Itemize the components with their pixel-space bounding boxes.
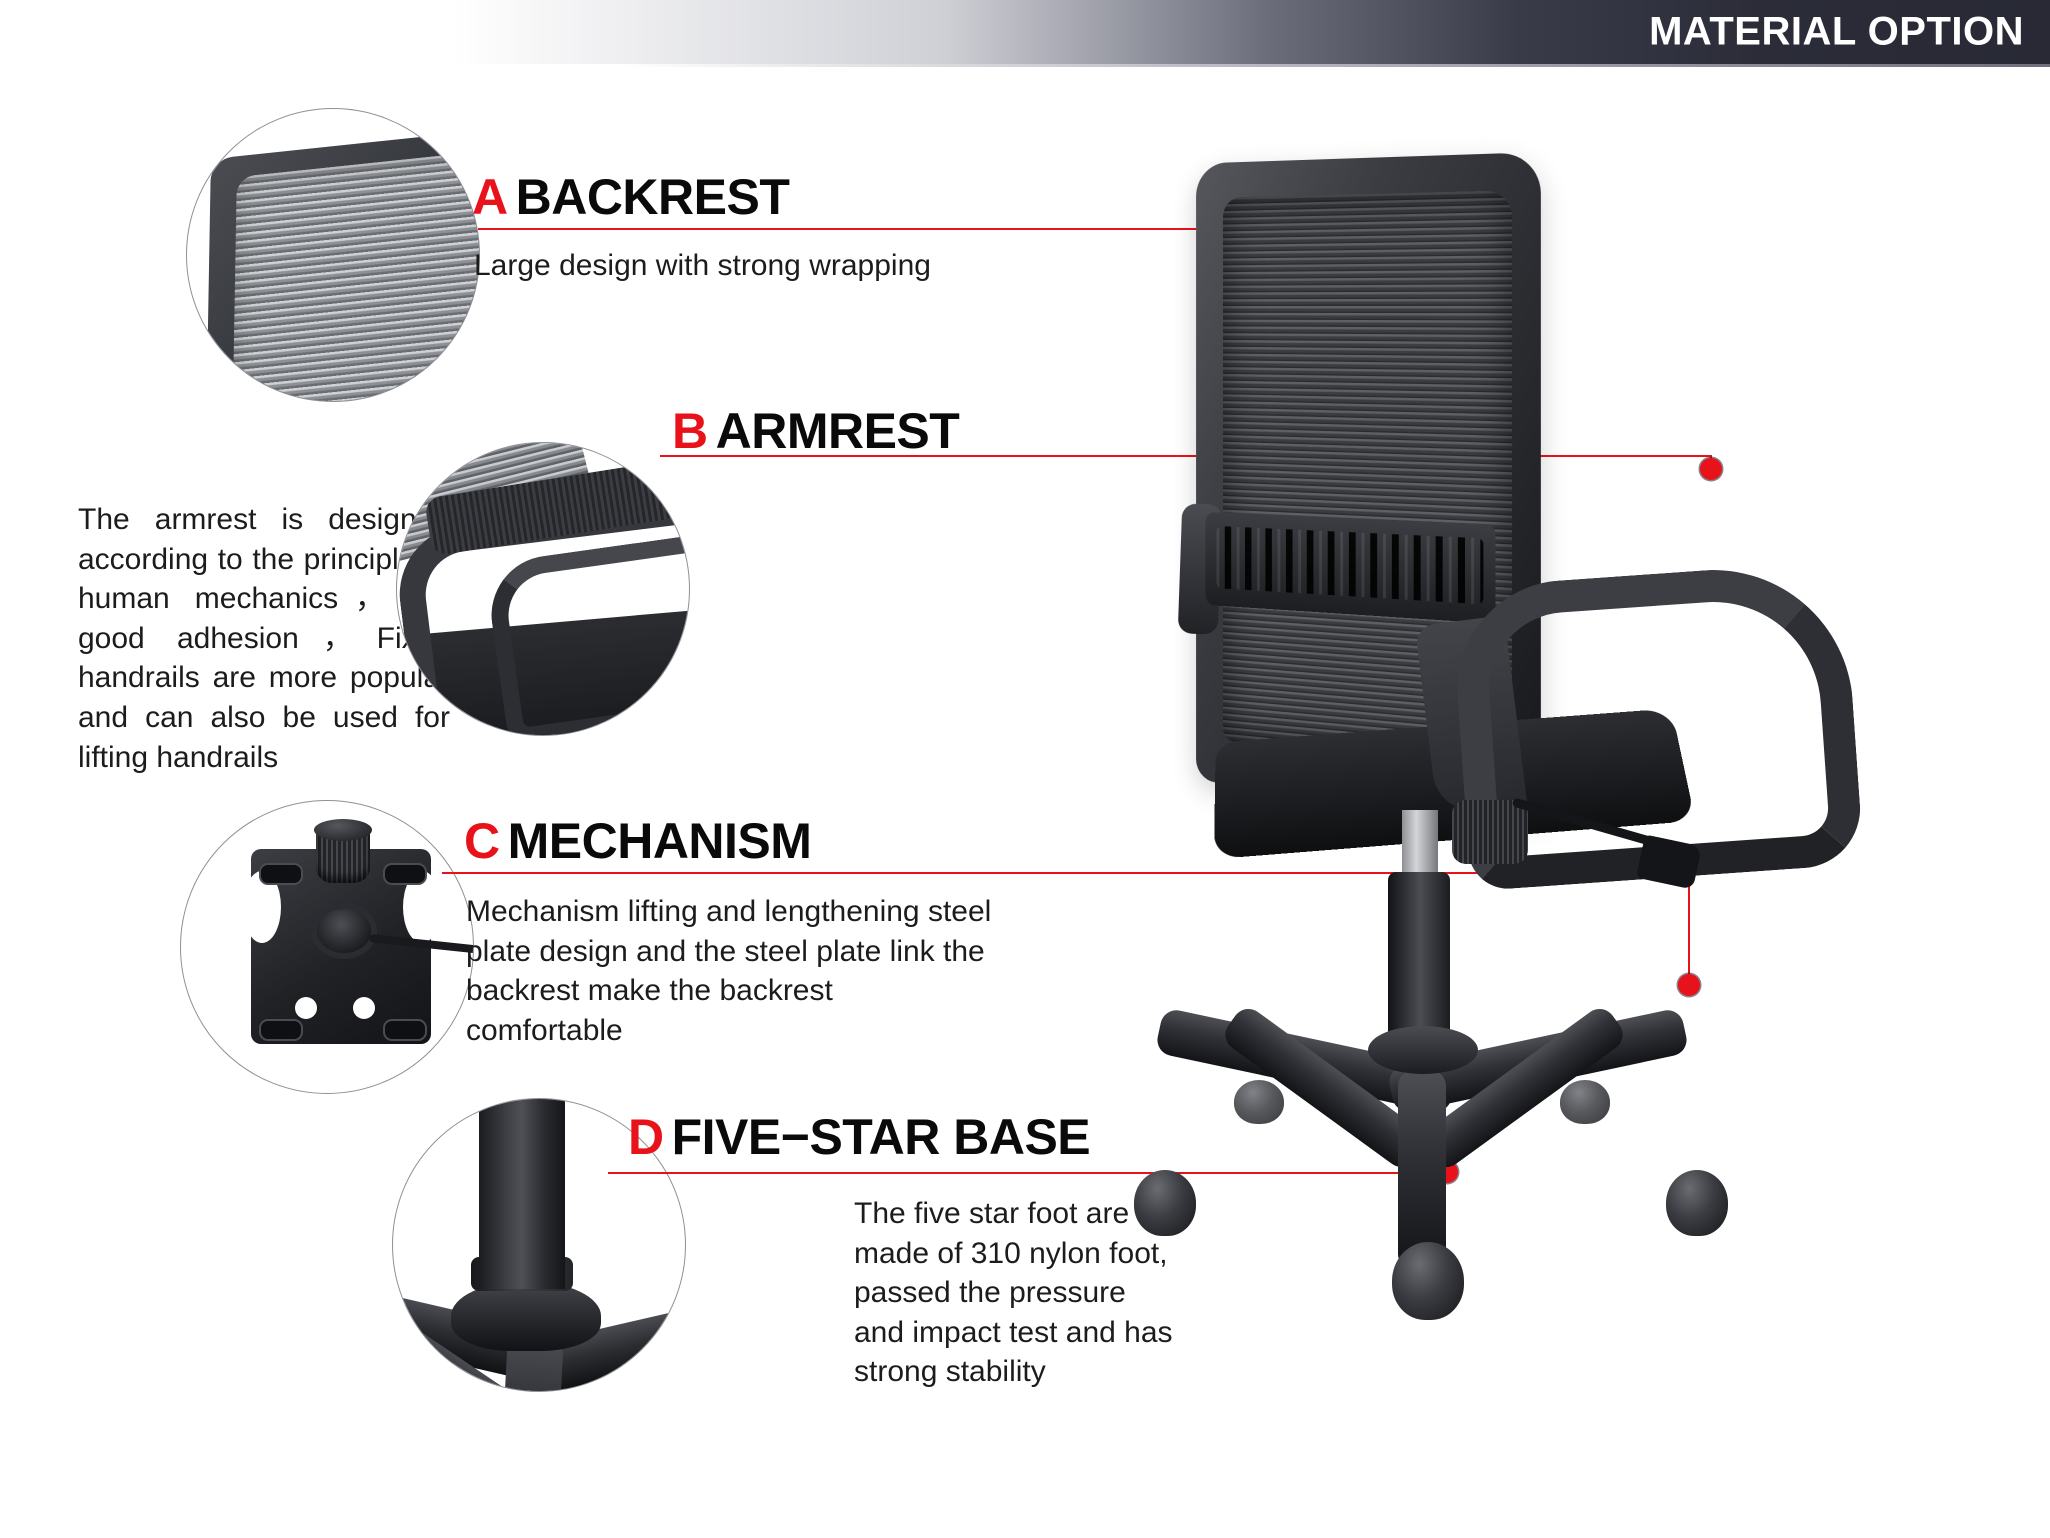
page-title: MATERIAL OPTION [1649,10,2024,55]
header-divider [0,64,2050,67]
chair-base-arm-5 [1398,1070,1446,1270]
section-b-title: ARMREST [716,403,960,459]
backrest-inset-image [187,109,479,401]
section-c-body: Mechanism lifting and lengthening steel … [466,892,994,1050]
mechanism-spindle-hub-shape [317,909,371,953]
chair-caster-rear-left [1234,1080,1284,1124]
chair-gas-lift-piston [1402,810,1438,880]
chair-caster-rear-right [1560,1080,1610,1124]
chair-lumbar-support [1206,512,1496,624]
chair-gas-lift-cylinder [1388,872,1450,1052]
base-gas-column-shape [479,1099,565,1289]
section-b-body: The armrest is designed according to the… [78,500,450,777]
mechanism-knob-cap-shape [314,819,372,841]
section-d-letter: D [628,1109,664,1165]
mechanism-inset-image [181,801,473,1093]
base-hub-shape [451,1281,601,1351]
backrest-inset-circle [186,108,480,402]
product-chair-image [1130,150,2010,1500]
section-d-heading: DFIVE−STAR BASE [628,1108,1090,1166]
mechanism-mount-slot-br [383,1019,427,1041]
chair-tilt-tension-knob [1452,800,1528,864]
chair-caster-right [1666,1170,1728,1236]
section-a-letter: A [472,169,508,225]
section-d-title: FIVE−STAR BASE [672,1109,1091,1165]
mechanism-inset-circle [180,800,474,1094]
armrest-inset-image [397,443,689,735]
section-a-body: Large design with strong wrapping [474,246,1114,286]
infographic-page: MATERIAL OPTION ABACKREST Large design w… [0,0,2050,1538]
chair-caster-front [1392,1242,1464,1320]
armrest-inset-circle [396,442,690,736]
section-a-heading: ABACKREST [472,168,789,226]
section-b-letter: B [672,403,708,459]
mechanism-mount-slot-tl [259,863,303,885]
section-b-heading: BARMREST [672,402,959,460]
mechanism-mount-slot-tr [383,863,427,885]
section-a-title: BACKREST [516,169,790,225]
header-bar: MATERIAL OPTION [0,0,2050,64]
chair-base-hub [1368,1026,1478,1074]
chair-caster-left [1134,1170,1196,1236]
section-c-letter: C [464,813,500,869]
mechanism-hole-right [353,997,375,1019]
section-c-title: MECHANISM [508,813,812,869]
section-c-heading: CMECHANISM [464,812,811,870]
mechanism-mount-slot-bl [259,1019,303,1041]
mechanism-hole-left [295,997,317,1019]
section-d-body: The five star foot are made of 310 nylon… [854,1194,1174,1392]
chair-lumbar-slots [1217,526,1484,604]
mesh-weave-shape [231,143,479,401]
